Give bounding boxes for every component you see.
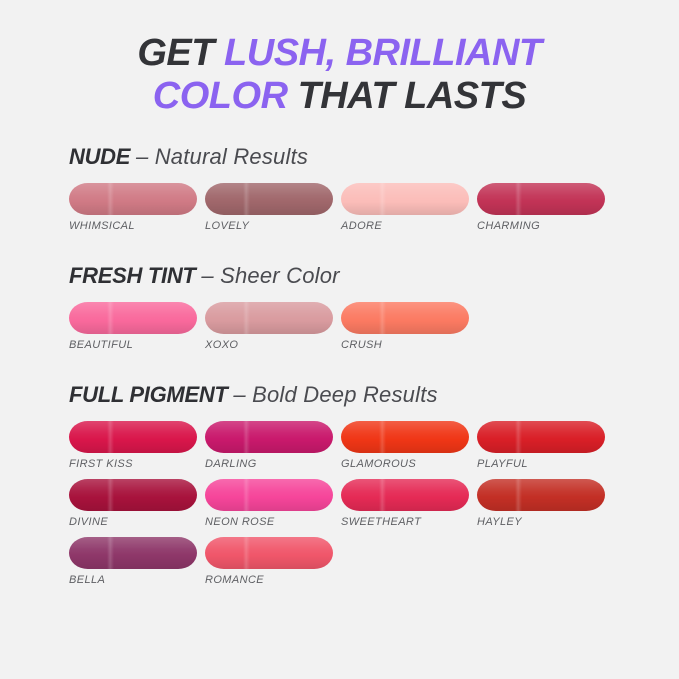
swatch-cell[interactable]: LOVELY	[205, 183, 341, 232]
headline-text-color: COLOR	[153, 75, 298, 117]
color-swatch[interactable]	[341, 479, 469, 511]
section-full-pigment: FULL PIGMENT – Bold Deep Results FIRST K…	[69, 382, 639, 595]
color-swatch[interactable]	[477, 479, 605, 511]
swatch-cell[interactable]: CRUSH	[341, 302, 477, 351]
color-swatch[interactable]	[69, 302, 197, 334]
swatch-label: NEON ROSE	[205, 516, 341, 528]
color-swatch[interactable]	[205, 479, 333, 511]
headline-text-lush-brilliant: LUSH, BRILLIANT	[224, 32, 542, 74]
swatch-cell[interactable]: ROMANCE	[205, 537, 341, 586]
color-swatch[interactable]	[69, 183, 197, 215]
color-swatch[interactable]	[205, 302, 333, 334]
swatch-cell[interactable]: HAYLEY	[477, 479, 613, 528]
swatch-label: DARLING	[205, 458, 341, 470]
color-swatch[interactable]	[477, 421, 605, 453]
swatch-cell[interactable]: BEAUTIFUL	[69, 302, 205, 351]
swatch-label: WHIMSICAL	[69, 220, 205, 232]
swatch-cell[interactable]: DARLING	[205, 421, 341, 470]
headline-text-get: GET	[137, 32, 224, 74]
color-swatch[interactable]	[205, 183, 333, 215]
color-swatch[interactable]	[477, 183, 605, 215]
swatch-cell[interactable]: BELLA	[69, 537, 205, 586]
section-heading: FRESH TINT – Sheer Color	[69, 263, 639, 289]
color-swatch[interactable]	[341, 302, 469, 334]
swatch-label: BELLA	[69, 574, 205, 586]
section-name: NUDE	[69, 144, 130, 169]
color-swatch[interactable]	[69, 537, 197, 569]
swatch-label: XOXO	[205, 339, 341, 351]
headline-line-1: GET LUSH, BRILLIANT	[0, 32, 679, 75]
color-swatch[interactable]	[69, 421, 197, 453]
swatch-cell[interactable]: GLAMOROUS	[341, 421, 477, 470]
lipstick-shade-chart: GET LUSH, BRILLIANT COLOR THAT LASTS NUD…	[0, 0, 679, 679]
section-fresh-tint: FRESH TINT – Sheer Color BEAUTIFUL XOXO …	[69, 263, 639, 360]
color-swatch[interactable]	[205, 537, 333, 569]
swatch-label: ROMANCE	[205, 574, 341, 586]
swatch-cell[interactable]: CHARMING	[477, 183, 613, 232]
swatch-cell[interactable]: FIRST KISS	[69, 421, 205, 470]
swatch-cell[interactable]: PLAYFUL	[477, 421, 613, 470]
swatch-label: GLAMOROUS	[341, 458, 477, 470]
section-nude: NUDE – Natural Results WHIMSICAL LOVELY …	[69, 144, 639, 241]
swatch-label: PLAYFUL	[477, 458, 613, 470]
swatch-label: CRUSH	[341, 339, 477, 351]
page-title: GET LUSH, BRILLIANT COLOR THAT LASTS	[0, 0, 679, 118]
section-subtitle: – Sheer Color	[201, 263, 339, 288]
color-swatch[interactable]	[205, 421, 333, 453]
swatch-row: FIRST KISS DARLING GLAMOROUS PLAYFUL DIV…	[69, 421, 639, 595]
swatch-cell[interactable]: DIVINE	[69, 479, 205, 528]
swatch-row: WHIMSICAL LOVELY ADORE CHARMING	[69, 183, 639, 241]
swatch-label: FIRST KISS	[69, 458, 205, 470]
color-swatch[interactable]	[341, 421, 469, 453]
swatch-label: BEAUTIFUL	[69, 339, 205, 351]
swatch-row: BEAUTIFUL XOXO CRUSH	[69, 302, 639, 360]
swatch-label: HAYLEY	[477, 516, 613, 528]
swatch-label: CHARMING	[477, 220, 613, 232]
color-swatch[interactable]	[341, 183, 469, 215]
swatch-cell[interactable]: XOXO	[205, 302, 341, 351]
section-subtitle: – Bold Deep Results	[233, 382, 437, 407]
section-name: FRESH TINT	[69, 263, 196, 288]
swatch-cell[interactable]: WHIMSICAL	[69, 183, 205, 232]
swatch-label: SWEETHEART	[341, 516, 477, 528]
swatch-label: ADORE	[341, 220, 477, 232]
swatch-cell[interactable]: SWEETHEART	[341, 479, 477, 528]
section-heading: FULL PIGMENT – Bold Deep Results	[69, 382, 639, 408]
swatch-label: LOVELY	[205, 220, 341, 232]
swatch-cell[interactable]: ADORE	[341, 183, 477, 232]
section-subtitle: – Natural Results	[136, 144, 308, 169]
headline-text-that-lasts: THAT LASTS	[298, 75, 527, 117]
headline-line-2: COLOR THAT LASTS	[0, 75, 679, 118]
swatch-cell[interactable]: NEON ROSE	[205, 479, 341, 528]
swatch-label: DIVINE	[69, 516, 205, 528]
section-heading: NUDE – Natural Results	[69, 144, 639, 170]
shade-sections: NUDE – Natural Results WHIMSICAL LOVELY …	[0, 144, 679, 595]
section-name: FULL PIGMENT	[69, 382, 228, 407]
color-swatch[interactable]	[69, 479, 197, 511]
